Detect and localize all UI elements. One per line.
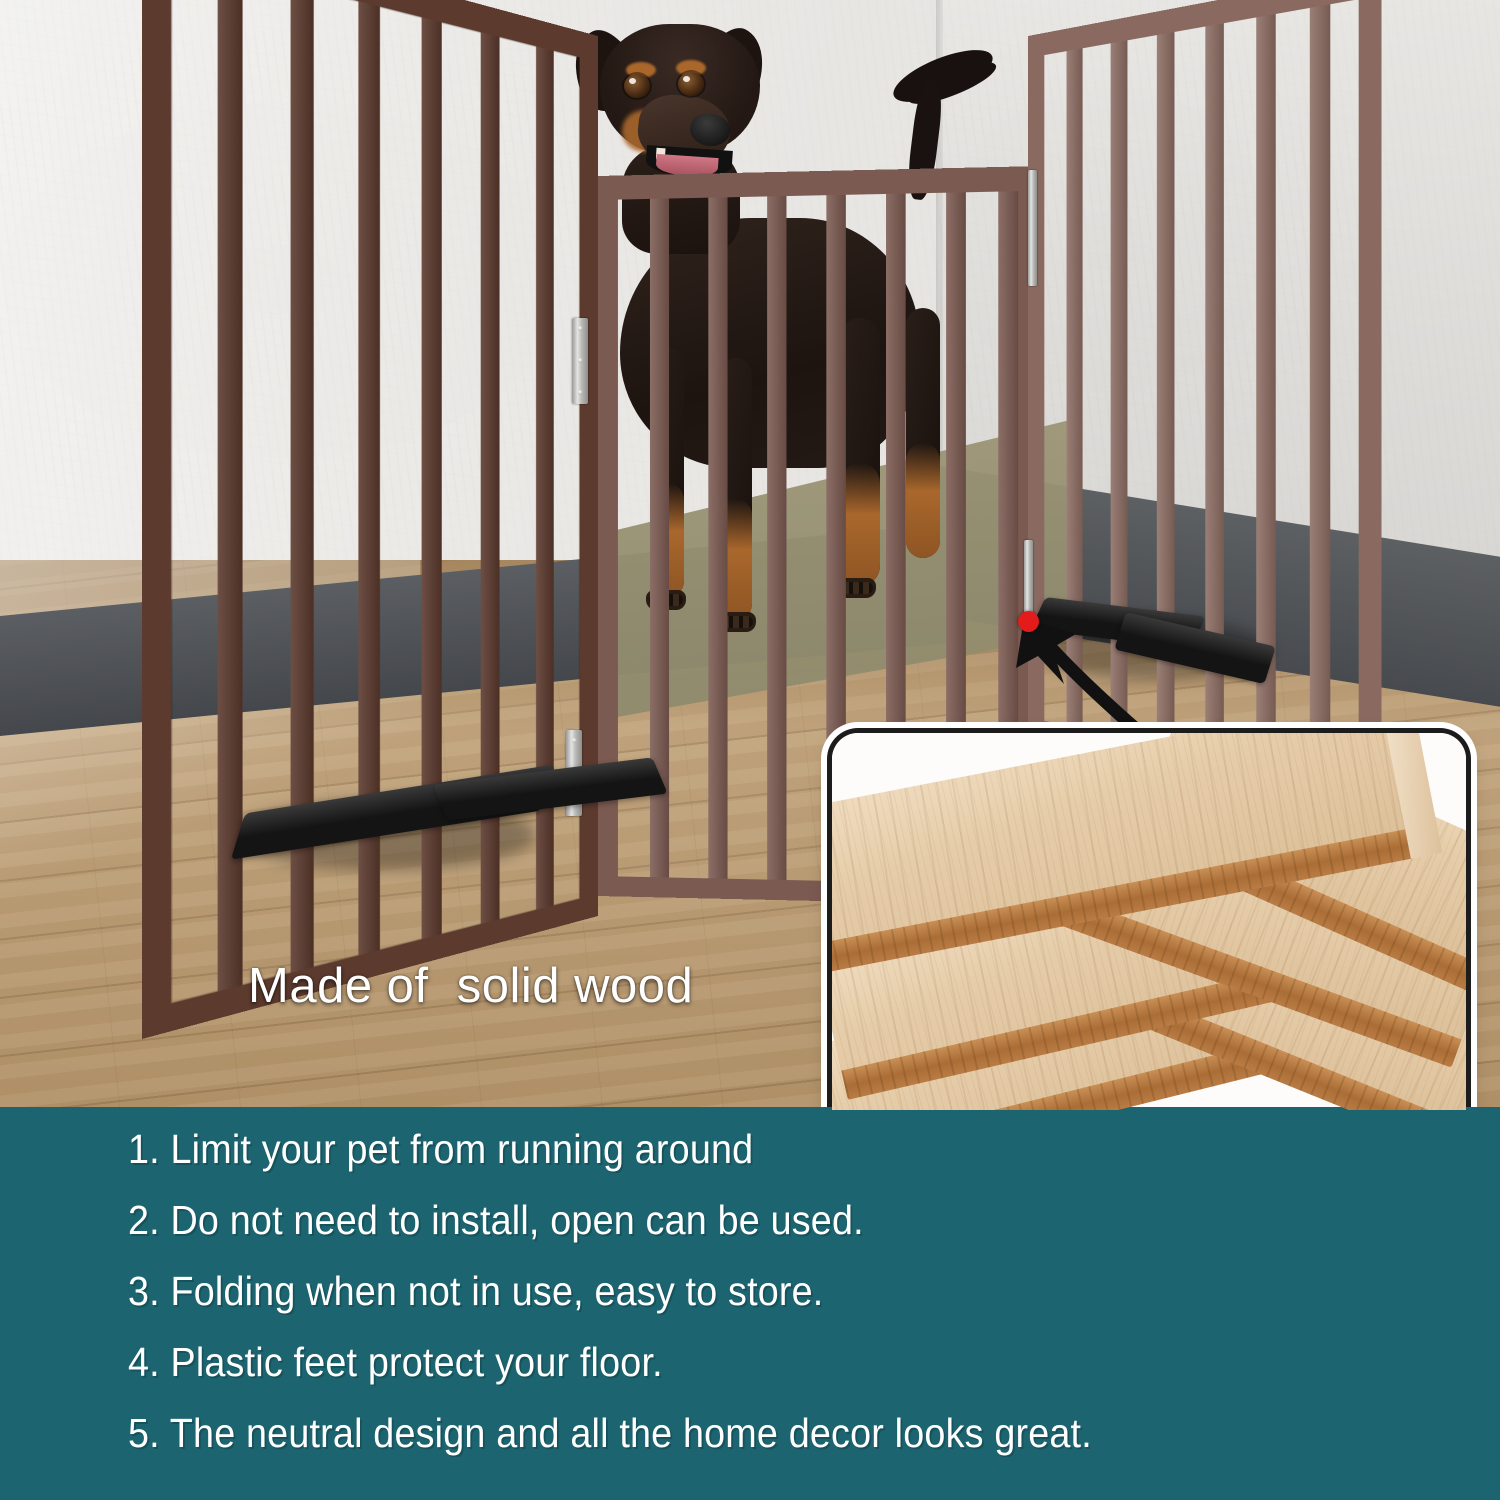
product-photo-scene: Made of solid wood	[0, 0, 1500, 1110]
made-of-solid-wood-caption: Made of solid wood	[248, 958, 693, 1014]
gate-hinge-upper-right	[1028, 170, 1037, 286]
gate-slat	[767, 196, 786, 880]
feature-item-5: 5. The neutral design and all the home d…	[128, 1413, 1352, 1454]
features-list: 1. Limit your pet from running around 2.…	[128, 1129, 1458, 1484]
feature-item-2: 2. Do not need to install, open can be u…	[128, 1200, 1352, 1241]
product-marketing-image: Made of solid wood	[0, 0, 1500, 1500]
feature-item-4: 4. Plastic feet protect your floor.	[128, 1342, 1352, 1383]
solid-wood-inset-image	[832, 733, 1466, 1110]
red-dot-marker-icon	[1018, 611, 1039, 632]
feature-item-1: 1. Limit your pet from running around	[128, 1129, 1352, 1170]
inset-photo	[832, 733, 1466, 1110]
gate-slat	[708, 197, 727, 878]
features-panel: 1. Limit your pet from running around 2.…	[0, 1107, 1500, 1500]
feature-item-3: 3. Folding when not in use, easy to stor…	[128, 1271, 1352, 1312]
gate-slat	[1310, 4, 1330, 772]
gate-panel-left[interactable]	[142, 0, 598, 1039]
gate-hinge-upper-left	[572, 318, 588, 404]
